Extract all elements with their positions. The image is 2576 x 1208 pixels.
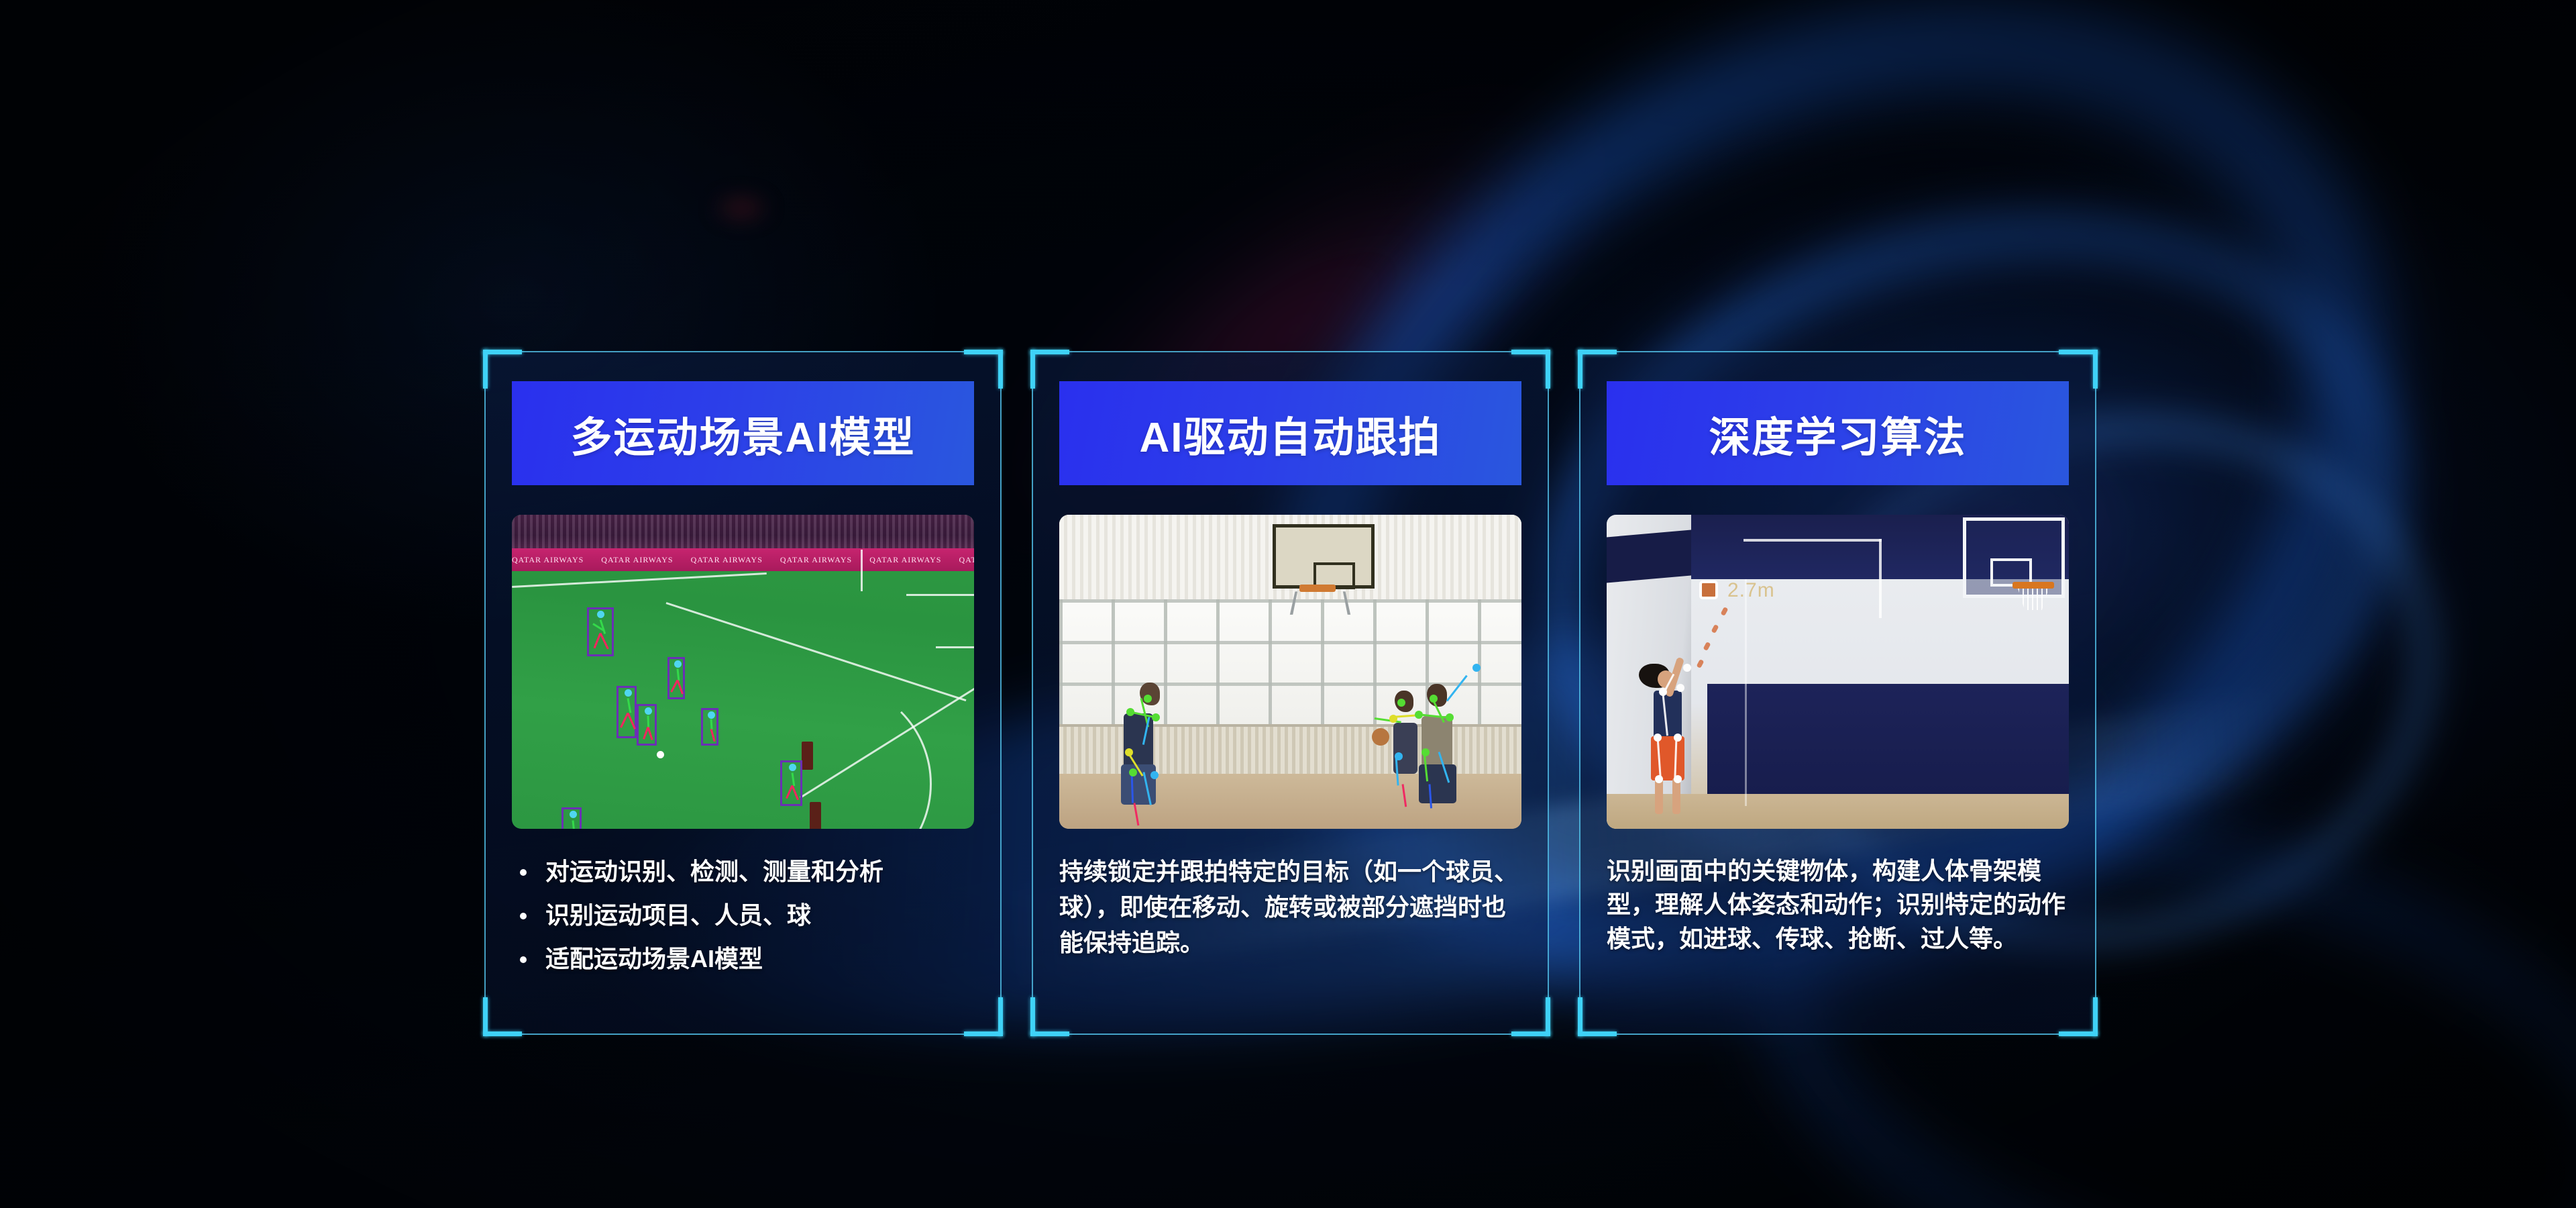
court-wall-padding [1707,684,2069,794]
skeleton-head [789,764,796,771]
skeleton-keypoint [1446,713,1454,721]
card-description: 对运动识别、检测、测量和分析 识别运动项目、人员、球 适配运动场景AI模型 [512,854,974,977]
skeleton-head [674,660,682,668]
skeleton-head [625,689,632,697]
skeleton-bone [1402,784,1407,807]
slide-canvas: 多运动场景AI模型 QATAR AIRWAYS QATAR AIRWAYS QA… [0,0,2576,1208]
detection-box [667,657,685,699]
skeleton-limb [670,680,678,693]
skeleton-limb [627,698,632,713]
skeleton-head [708,711,715,719]
skeleton-keypoint [1472,664,1481,672]
height-reference-line [1745,579,1747,806]
player-undetected [810,802,821,829]
card-content: 深度学习算法 [1607,381,2069,1005]
skeleton-limb [792,772,796,786]
skeleton-limb [643,727,649,740]
player-leg [1655,778,1663,814]
ad-text: QATAR AIRWAYS [959,555,974,565]
card-description: 持续锁定并跟拍特定的目标（如一个球员、球），即使在移动、旋转或被部分遮挡时也能保… [1059,854,1521,961]
player-shorts [1651,736,1684,781]
detection-box [780,760,802,806]
skeleton-keypoint [1415,711,1423,719]
soccer-ball [657,751,664,758]
skeleton-keypoint [1676,684,1684,692]
card-content: 多运动场景AI模型 QATAR AIRWAYS QATAR AIRWAYS QA… [512,381,974,1005]
skeleton-keypoint [1421,748,1430,756]
feature-card-deep-learning-algorithm[interactable]: 深度学习算法 [1579,351,2096,1035]
pose-skeleton-right-players [1059,515,1521,829]
feature-bullet-list: 对运动识别、检测、测量和分析 识别运动项目、人员、球 适配运动场景AI模型 [512,854,974,977]
trajectory-guide-vertical [1879,539,1882,618]
detection-box [701,708,718,746]
pitch-line-box [906,594,974,596]
skeleton-head [597,611,604,618]
player-head [1427,684,1447,707]
trajectory-guide-horizontal [1743,539,1882,542]
card-thumbnail-gym[interactable] [1059,515,1521,829]
skeleton-limb [710,729,716,742]
skeleton-limb [594,633,602,648]
bullet-item: 识别运动项目、人员、球 [512,898,974,934]
card-thumbnail-soccer[interactable]: QATAR AIRWAYS QATAR AIRWAYS QATAR AIRWAY… [512,515,974,829]
detection-box [587,607,614,656]
detection-box [616,686,637,738]
skeleton-limb [647,715,650,727]
basketball-in-play [1372,728,1389,746]
skeleton-keypoint [1683,664,1691,672]
skeleton-keypoint [1655,775,1663,783]
player-leg [1672,778,1680,814]
description-paragraph: 识别画面中的关键物体，构建人体骨架模型，理解人体姿态和动作；识别特定的动作模式，… [1607,854,2069,956]
stadium-crowd [512,515,974,550]
card-title-banner: AI驱动自动跟拍 [1059,381,1521,485]
card-content: AI驱动自动跟拍 [1059,381,1521,1005]
skeleton-keypoint [1430,695,1438,703]
skeleton-limb [620,713,629,728]
measurement-label: 2.7m [1727,579,1775,602]
feature-card-row: 多运动场景AI模型 QATAR AIRWAYS QATAR AIRWAYS QA… [484,351,2096,1035]
skeleton-limb [786,785,793,799]
pitch-line-box-side [936,646,974,648]
skeleton-head [570,811,577,818]
skeleton-head [645,707,652,715]
ad-text: QATAR AIRWAYS [601,555,690,565]
card-description: 识别画面中的关键物体，构建人体骨架模型，理解人体姿态和动作；识别特定的动作模式，… [1607,854,2069,956]
feature-card-multi-sport-ai-model[interactable]: 多运动场景AI模型 QATAR AIRWAYS QATAR AIRWAYS QA… [484,351,1002,1035]
card-thumbnail-court[interactable]: 2.7m [1607,515,2069,829]
ad-text: QATAR AIRWAYS [869,555,959,565]
description-paragraph: 持续锁定并跟拍特定的目标（如一个球员、球），即使在移动、旋转或被部分遮挡时也能保… [1059,854,1521,961]
basketball-rim [2012,582,2054,589]
card-title-banner: 深度学习算法 [1607,381,2069,485]
advertising-board: QATAR AIRWAYS QATAR AIRWAYS QATAR AIRWAY… [512,548,974,571]
ad-text: QATAR AIRWAYS [780,555,869,565]
bullet-item: 适配运动场景AI模型 [512,942,974,977]
ad-text: QATAR AIRWAYS [512,555,601,565]
skeleton-limb [600,633,609,650]
pitch-line-goal-vertical [861,550,863,591]
court-column-navy-band [1607,530,1691,583]
bullet-item: 对运动识别、检测、测量和分析 [512,854,974,890]
detection-box [561,807,582,829]
skeleton-keypoint [1395,752,1403,760]
skeleton-keypoint [1674,775,1682,783]
detection-box [637,704,657,746]
skeleton-limb [572,820,576,829]
skeleton-keypoint [1674,734,1682,742]
feature-card-ai-auto-tracking[interactable]: AI驱动自动跟拍 [1032,351,1549,1035]
skeleton-keypoint [1389,715,1397,723]
skeleton-keypoint [1659,688,1667,696]
skeleton-keypoint [1654,734,1662,742]
ad-text: QATAR AIRWAYS [691,555,780,565]
player-undetected [802,742,813,770]
skeleton-bone [1446,675,1468,702]
tracked-ball-box [1699,581,1718,599]
skeleton-limb [627,713,636,729]
card-title-banner: 多运动场景AI模型 [512,381,974,485]
skeleton-keypoint [1397,699,1405,707]
